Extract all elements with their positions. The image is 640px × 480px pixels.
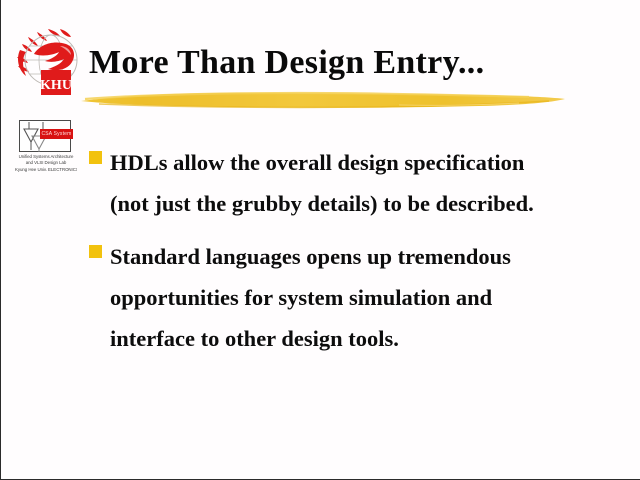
bullet-line: interface to other design tools. bbox=[110, 318, 609, 359]
caption-line-3: Kyung Hee Univ. ELECTRONICS bbox=[15, 167, 77, 173]
bullet-line: (not just the grubby details) to be desc… bbox=[110, 183, 609, 224]
presentation-slide: KHU More Than Design Entry... bbox=[0, 0, 640, 480]
bullet-item: Standard languages opens up tremendous o… bbox=[89, 236, 609, 359]
bullet-square-icon bbox=[89, 245, 102, 258]
bullet-text: Standard languages opens up tremendous o… bbox=[110, 236, 609, 359]
circuit-badge: CSA System bbox=[40, 129, 73, 139]
bullet-line: opportunities for system simulation and bbox=[110, 277, 609, 318]
bullet-line: HDLs allow the overall design specificat… bbox=[110, 142, 609, 183]
title-brush-underline bbox=[79, 88, 567, 112]
khu-wordmark: KHU bbox=[40, 78, 72, 93]
bullet-line: Standard languages opens up tremendous bbox=[110, 236, 609, 277]
circuit-caption: Unified Systems Architecture and VLSI De… bbox=[15, 154, 77, 173]
bullet-item: HDLs allow the overall design specificat… bbox=[89, 142, 609, 224]
page-title: More Than Design Entry... bbox=[89, 44, 484, 82]
circuit-lab-logo: CSA System Unified Systems Architecture … bbox=[15, 118, 77, 180]
bullet-square-icon bbox=[89, 151, 102, 164]
slide-body: HDLs allow the overall design specificat… bbox=[89, 142, 609, 371]
khu-logo: KHU bbox=[14, 24, 88, 96]
emblem-figure-icon bbox=[34, 42, 74, 70]
bullet-text: HDLs allow the overall design specificat… bbox=[110, 142, 609, 224]
